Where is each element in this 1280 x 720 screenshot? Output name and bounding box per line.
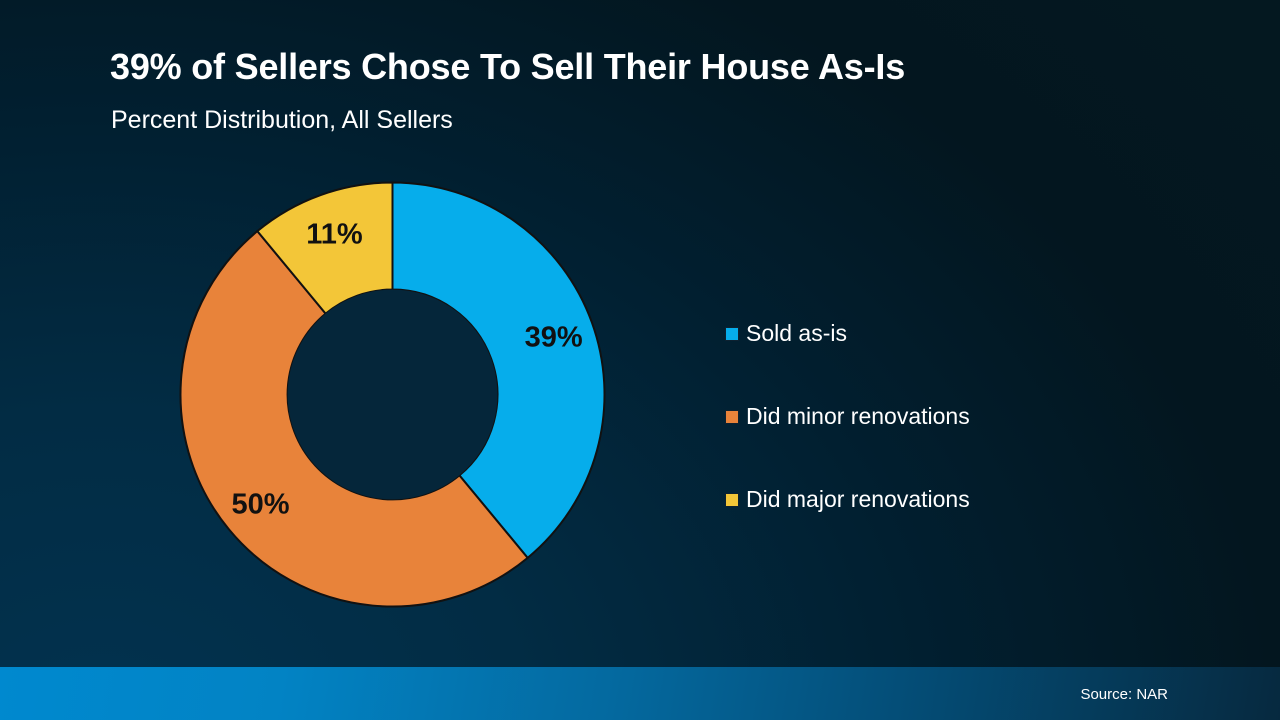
donut-chart: 39%50%11% xyxy=(170,172,615,617)
legend-swatch-icon xyxy=(726,328,738,340)
legend-item-did-major-renovations[interactable]: Did major renovations xyxy=(726,458,1056,541)
slide-canvas: 39% of Sellers Chose To Sell Their House… xyxy=(0,0,1280,720)
legend-item-did-minor-renovations[interactable]: Did minor renovations xyxy=(726,375,1056,458)
chart-legend: Sold as-is Did minor renovations Did maj… xyxy=(726,292,1056,541)
page-subtitle: Percent Distribution, All Sellers xyxy=(111,106,453,135)
slice-value-label: 39% xyxy=(525,322,583,354)
slice-value-label: 11% xyxy=(306,218,363,250)
legend-item-sold-as-is[interactable]: Sold as-is xyxy=(726,292,1056,375)
legend-item-label: Did minor renovations xyxy=(746,405,970,428)
legend-item-label: Did major renovations xyxy=(746,488,970,511)
legend-swatch-icon xyxy=(726,411,738,423)
source-note: Source: NAR xyxy=(1080,686,1168,703)
slice-value-label: 50% xyxy=(231,489,289,521)
legend-swatch-icon xyxy=(726,494,738,506)
donut-chart-svg: 39%50%11% xyxy=(170,172,615,617)
donut-center-hole xyxy=(288,290,498,500)
page-title: 39% of Sellers Chose To Sell Their House… xyxy=(110,46,905,88)
legend-item-label: Sold as-is xyxy=(746,322,847,345)
